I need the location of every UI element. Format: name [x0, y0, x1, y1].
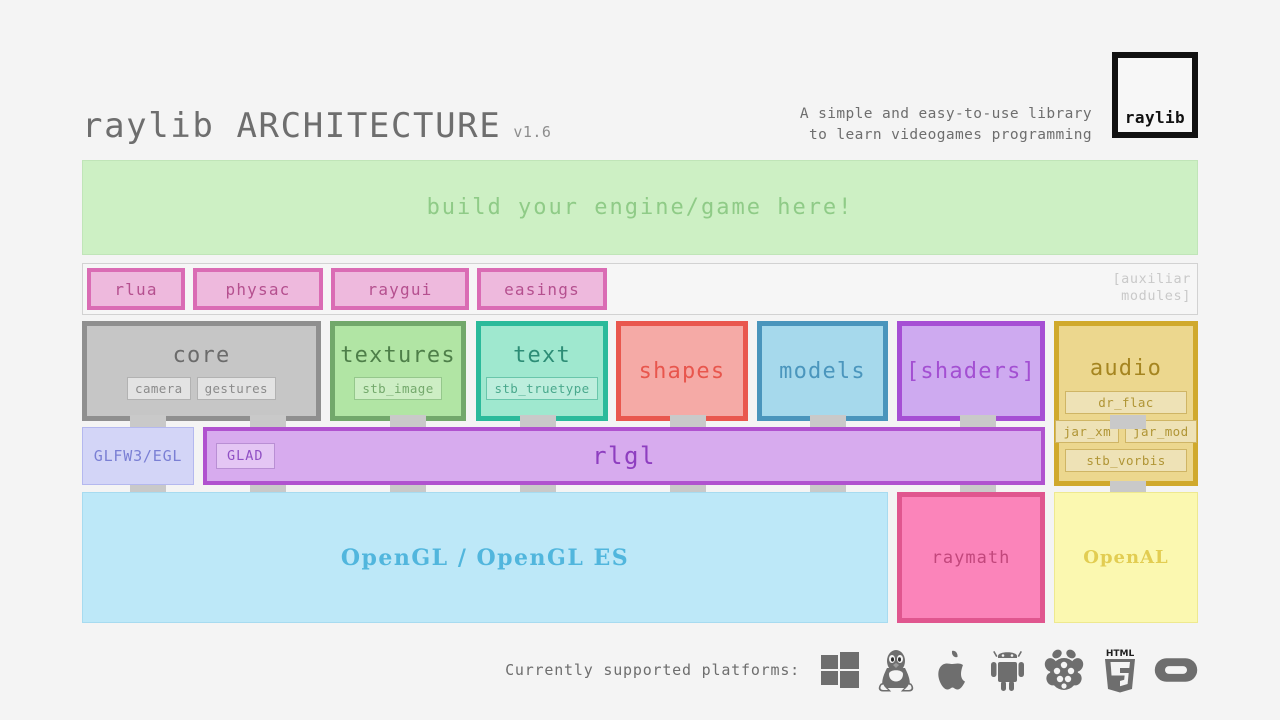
sub-module-stb_vorbis: stb_vorbis [1065, 449, 1187, 472]
sub-module-camera: camera [127, 377, 191, 400]
module-shapes: shapes [616, 321, 748, 421]
apple-icon [930, 647, 974, 693]
aux-module-rlua: rlua [87, 268, 185, 310]
banner-text: build your engine/game here! [427, 195, 854, 220]
sub-module-gestures: gestures [197, 377, 276, 400]
openal-label: OpenAL [1083, 547, 1168, 568]
sub-module-row: cameragestures [87, 377, 316, 400]
rlgl-label: rlgl [592, 442, 656, 470]
module-label: models [779, 359, 866, 384]
module-opengl: OpenGL / OpenGL ES [82, 492, 888, 623]
module-core: corecameragestures [82, 321, 321, 421]
auxiliar-caption-line-2: modules] [1112, 288, 1191, 305]
glfw3-egl-label: GLFW3/EGL [94, 447, 182, 465]
module-text: textstb_truetype [476, 321, 608, 421]
aux-module-label: easings [504, 280, 580, 299]
module-label: shapes [639, 359, 726, 384]
module-textures: texturesstb_image [330, 321, 466, 421]
module-raymath: raymath [897, 492, 1045, 623]
aux-module-raygui: raygui [331, 268, 469, 310]
sub-module-dr_flac: dr_flac [1065, 391, 1187, 414]
header: raylib ARCHITECTURE v1.6 A simple and ea… [82, 52, 1198, 148]
aux-module-label: physac [226, 280, 291, 299]
module-inner: textstb_truetype [481, 326, 603, 416]
tagline-line-1: A simple and easy-to-use library [800, 104, 1092, 125]
module-rlgl: GLAD rlgl [203, 427, 1045, 485]
module-inner: audiodr_flacjar_xmjar_modstb_vorbis [1059, 326, 1193, 481]
raymath-inner: raymath [902, 497, 1040, 618]
logo-text: raylib [1125, 108, 1185, 132]
windows-icon [818, 647, 862, 693]
module-label: audio [1090, 356, 1162, 381]
title-text: raylib ARCHITECTURE [82, 106, 501, 146]
module-inner: [shaders] [902, 326, 1040, 416]
connector-tab-upper-7 [1110, 415, 1146, 429]
version-label: v1.6 [513, 123, 551, 141]
module-inner: corecameragestures [87, 326, 316, 416]
aux-module-inner: easings [481, 272, 603, 306]
raspberry-pi-icon [1042, 647, 1086, 693]
module-label: core [173, 343, 231, 368]
module-inner: texturesstb_image [335, 326, 461, 416]
module-models: models [757, 321, 888, 421]
module-glfw3-egl: GLFW3/EGL [82, 427, 194, 485]
aux-module-label: raygui [368, 280, 433, 299]
raylib-architecture-diagram: raylib ARCHITECTURE v1.6 A simple and ea… [0, 0, 1280, 720]
module-label: [shaders] [906, 359, 1036, 384]
sub-module-row: stb_image [335, 377, 461, 400]
module-inner: models [762, 326, 883, 416]
module-inner: shapes [621, 326, 743, 416]
aux-module-inner: rlua [91, 272, 181, 306]
supported-platforms-footer: Currently supported platforms: HTML [0, 640, 1280, 700]
opengl-label: OpenGL / OpenGL ES [341, 545, 629, 571]
sub-module-row: stb_truetype [481, 377, 603, 400]
supported-platforms-label: Currently supported platforms: [505, 661, 800, 679]
module-openal: OpenAL [1054, 492, 1198, 623]
module-label: text [513, 343, 571, 368]
platform-icons-list: HTML [818, 647, 1198, 693]
sub-module-stb_truetype: stb_truetype [486, 377, 597, 400]
sub-module-stb_image: stb_image [354, 377, 441, 400]
html5-icon: HTML [1098, 647, 1142, 693]
aux-module-label: rlua [114, 280, 157, 299]
linux-tux-icon [874, 647, 918, 693]
aux-module-physac: physac [193, 268, 323, 310]
sub-module-glad: GLAD [216, 443, 275, 469]
android-icon [986, 647, 1030, 693]
sub-module-row: dr_flac [1059, 391, 1193, 414]
auxiliar-caption-line-1: [auxiliar [1112, 271, 1191, 288]
page-title: raylib ARCHITECTURE v1.6 [82, 106, 551, 146]
aux-module-inner: physac [197, 272, 319, 306]
module-audio: audiodr_flacjar_xmjar_modstb_vorbis [1054, 321, 1198, 486]
auxiliar-modules-caption: [auxiliar modules] [1112, 271, 1191, 305]
raylib-logo: raylib [1112, 52, 1198, 138]
rlgl-inner: GLAD rlgl [207, 431, 1041, 481]
aux-module-easings: easings [477, 268, 607, 310]
module-label: textures [340, 343, 456, 368]
build-your-game-banner: build your engine/game here! [82, 160, 1198, 255]
sub-module-row: stb_vorbis [1059, 449, 1193, 472]
module-shaders: [shaders] [897, 321, 1045, 421]
raymath-label: raymath [932, 548, 1011, 568]
tagline: A simple and easy-to-use library to lear… [800, 104, 1092, 146]
oculus-vr-icon [1154, 647, 1198, 693]
aux-module-inner: raygui [335, 272, 465, 306]
svg-text:HTML: HTML [1106, 649, 1135, 659]
auxiliar-modules-row: rluaphysacrayguieasings [auxiliar module… [82, 263, 1198, 315]
tagline-line-2: to learn videogames programming [800, 125, 1092, 146]
